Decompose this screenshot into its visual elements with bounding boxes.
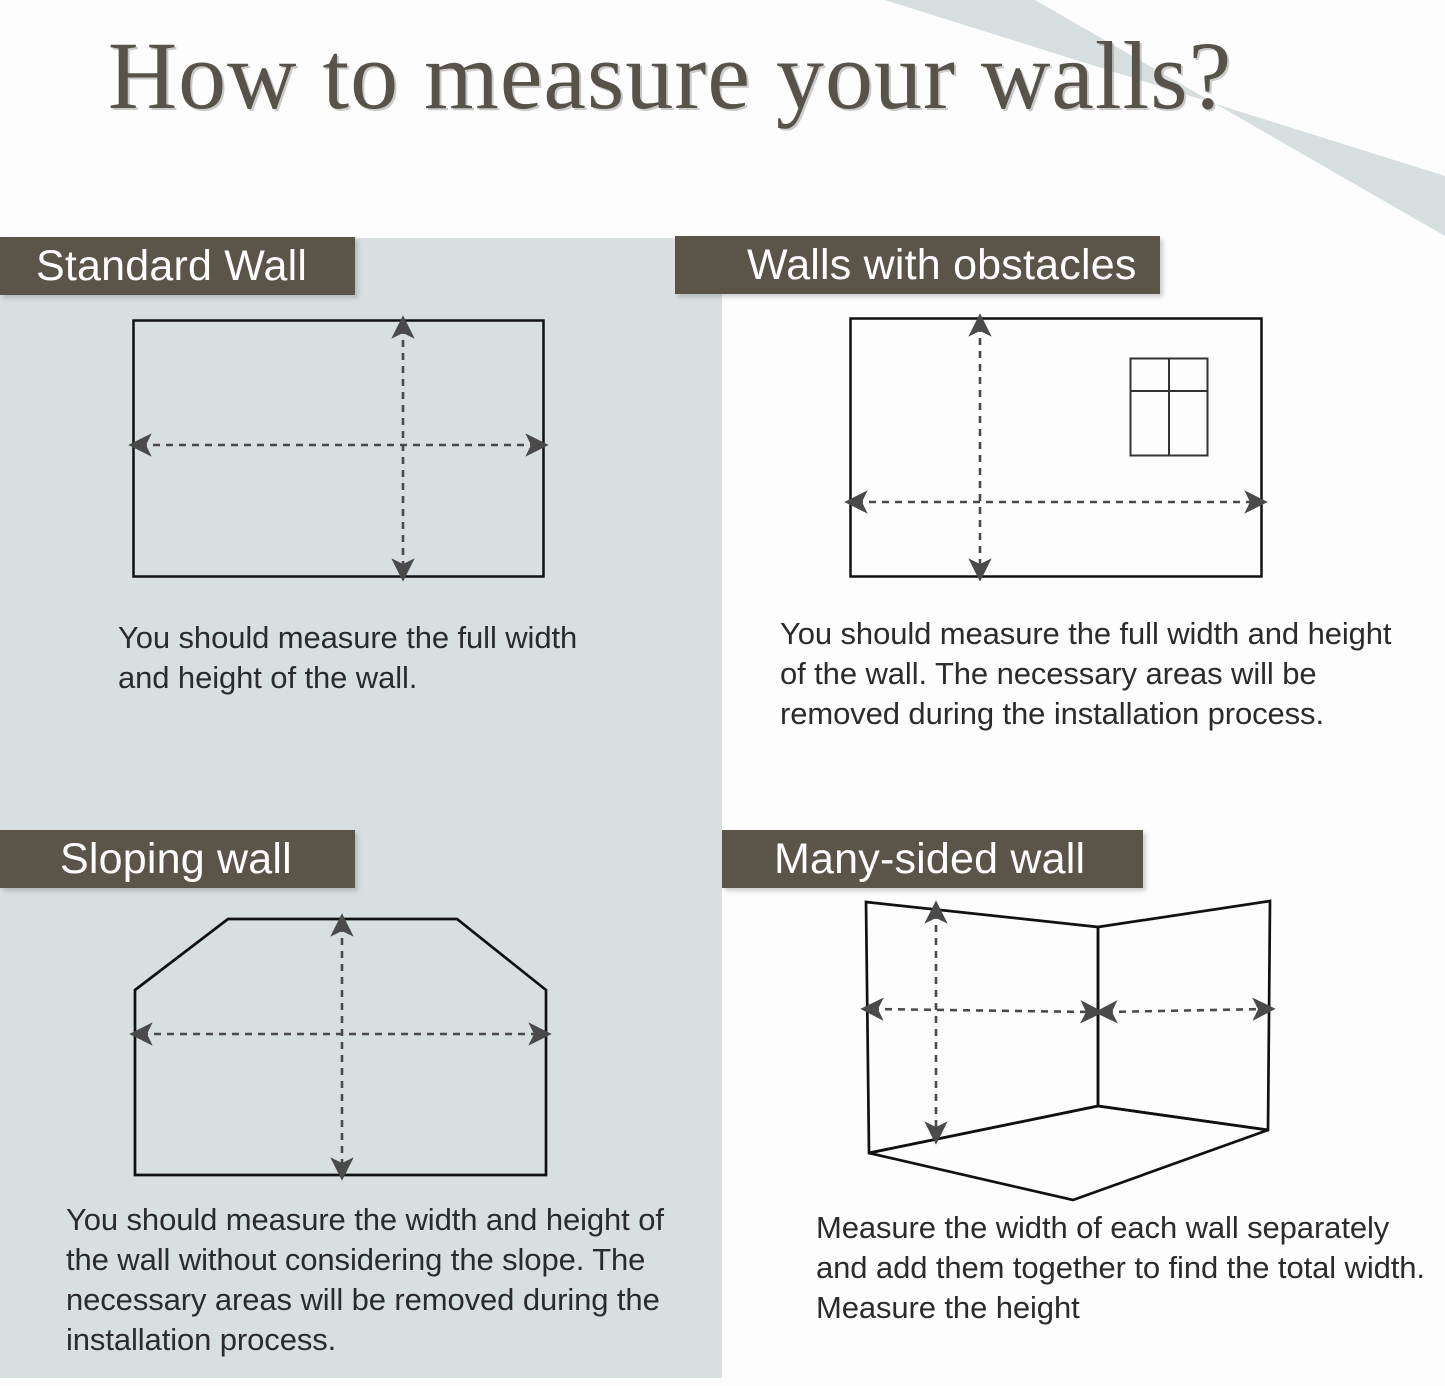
infographic-page: How to measure your walls? Standard Wall…	[0, 0, 1445, 1386]
section-header-many-sided-wall: Many-sided wall	[722, 830, 1143, 888]
right-wall-width-arrow	[1106, 1009, 1264, 1012]
page-title: How to measure your walls?	[0, 26, 1340, 127]
section-header-walls-with-obstacles: Walls with obstacles	[675, 236, 1160, 294]
left-wall-outline	[866, 902, 1098, 1153]
left-wall-width-arrow	[872, 1009, 1092, 1012]
caption-sloping-wall: You should measure the width and height …	[66, 1200, 666, 1360]
wall-outline	[135, 919, 546, 1175]
wall-outline	[134, 321, 544, 577]
many-sided-wall-diagram	[840, 885, 1310, 1215]
section-header-standard-wall: Standard Wall	[0, 237, 355, 295]
wall-outline	[851, 319, 1262, 577]
right-wall-outline	[1098, 901, 1270, 1130]
caption-walls-with-obstacles: You should measure the full width and he…	[780, 614, 1420, 734]
sloping-wall-diagram	[110, 900, 580, 1195]
caption-many-sided-wall: Measure the width of each wall separatel…	[816, 1208, 1426, 1328]
window-icon	[1131, 359, 1208, 456]
floor-outline	[869, 1106, 1268, 1200]
walls-with-obstacles-diagram	[830, 305, 1290, 595]
standard-wall-diagram	[110, 305, 580, 595]
caption-standard-wall: You should measure the full width and he…	[118, 618, 618, 698]
section-header-sloping-wall: Sloping wall	[0, 830, 355, 888]
